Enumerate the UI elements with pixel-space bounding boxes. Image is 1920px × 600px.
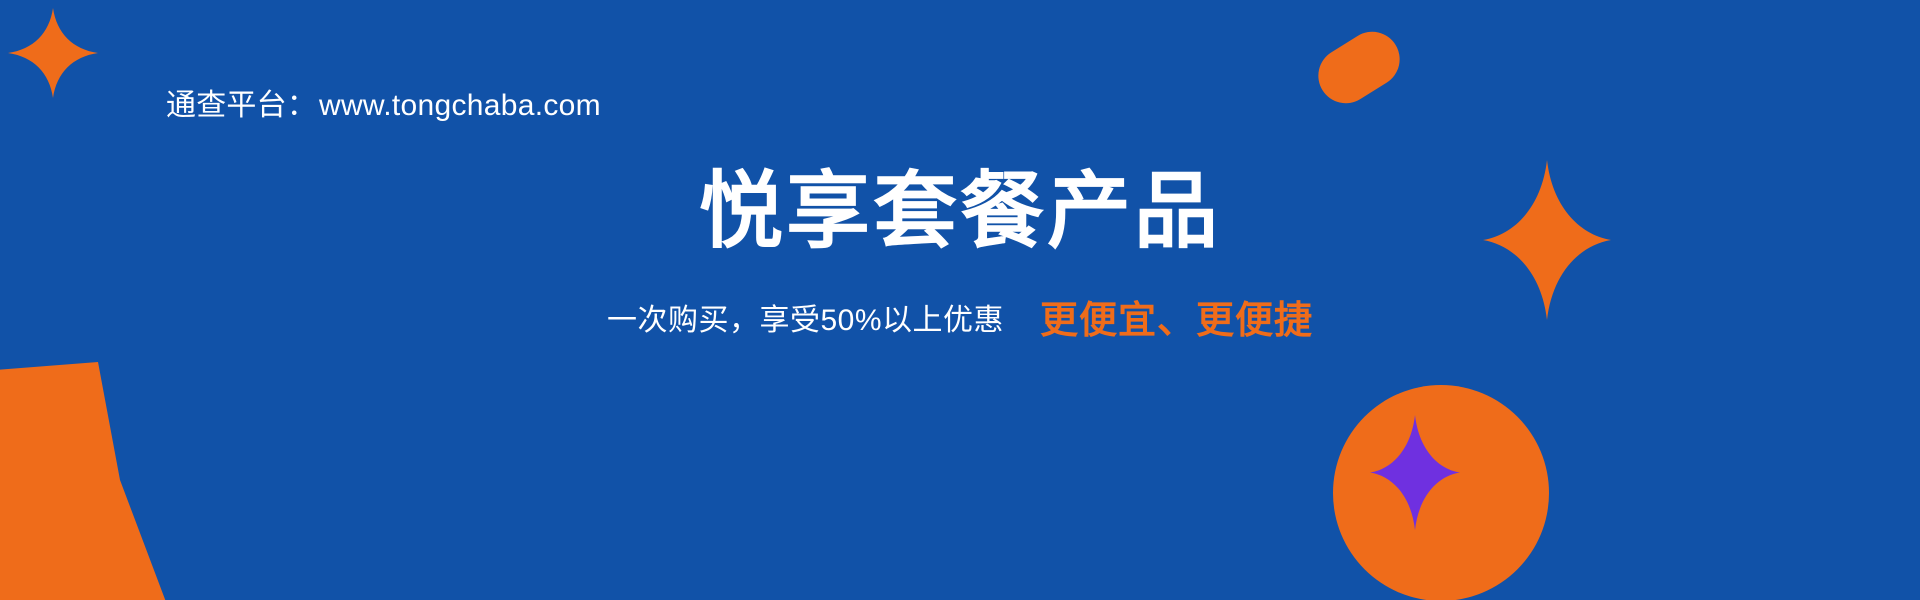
platform-url-line: 通查平台：www.tongchaba.com	[166, 86, 601, 126]
promo-banner: 通查平台：www.tongchaba.com 悦享套餐产品 一次购买，享受50%…	[0, 0, 1920, 600]
subtitle-highlight: 更便宜、更便捷	[1040, 300, 1313, 342]
page-title: 悦享套餐产品	[0, 163, 1920, 259]
subtitle-description: 一次购买，享受50%以上优惠	[607, 304, 1004, 337]
platform-label: 通查平台：	[166, 89, 317, 122]
platform-url: www.tongchaba.com	[319, 89, 601, 122]
subtitle-row: 一次购买，享受50%以上优惠更便宜、更便捷	[0, 296, 1920, 346]
